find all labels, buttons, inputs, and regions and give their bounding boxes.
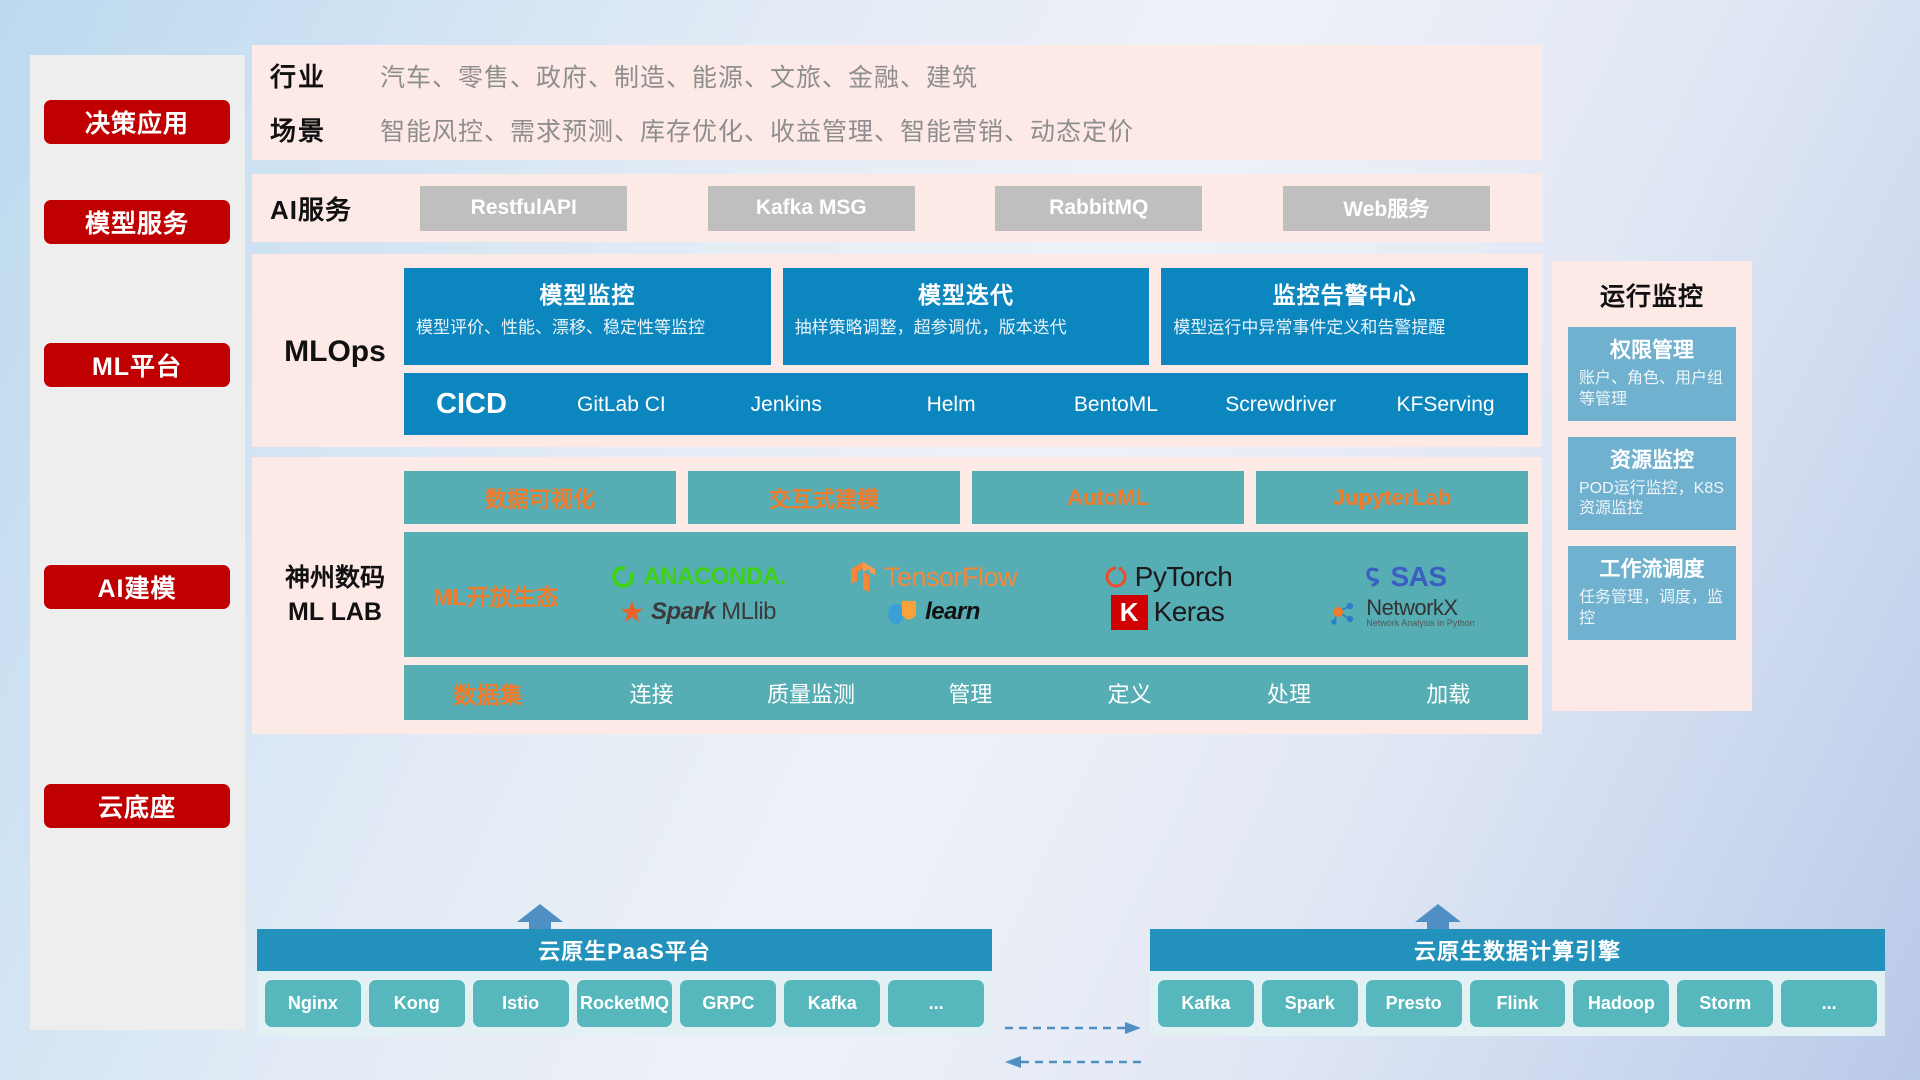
stage-pill-cloud-base[interactable]: 云底座 bbox=[44, 784, 230, 828]
dataset-label: 数据集 bbox=[404, 676, 572, 710]
pytorch-wordmark: PyTorch bbox=[1135, 561, 1233, 593]
card-desc: POD运行监控，K8S资源监控 bbox=[1579, 479, 1725, 521]
architecture-main: 行业 汽车、零售、政府、制造、能源、文旅、金融、建筑 场景 智能风控、需求预测、… bbox=[252, 45, 1542, 734]
card-desc: 模型运行中异常事件定义和告警提醒 bbox=[1173, 317, 1516, 339]
cicd-bar: CICD GitLab CI Jenkins Helm BentoML Scre… bbox=[404, 373, 1528, 435]
cicd-item-kfserving[interactable]: KFServing bbox=[1363, 394, 1528, 415]
mlops-label: MLOps bbox=[266, 268, 404, 435]
cloud-data-engine-title: 云原生数据计算引擎 bbox=[1150, 929, 1885, 971]
engine-chip-storm[interactable]: Storm bbox=[1677, 980, 1773, 1027]
stage-pill-model-service[interactable]: 模型服务 bbox=[44, 200, 230, 244]
stage-pill-ml-platform[interactable]: ML平台 bbox=[44, 343, 230, 387]
scenario-value: 智能风控、需求预测、库存优化、收益管理、智能营销、动态定价 bbox=[380, 112, 1134, 148]
dataset-item-process[interactable]: 处理 bbox=[1209, 677, 1368, 709]
paas-chip-nginx[interactable]: Nginx bbox=[265, 980, 361, 1027]
sas-wordmark: SAS bbox=[1390, 561, 1446, 593]
cicd-item-screwdriver[interactable]: Screwdriver bbox=[1198, 394, 1363, 415]
ml-lab-label: 神州数码 ML LAB bbox=[266, 471, 404, 720]
runtime-monitor-panel: 运行监控 权限管理 账户、角色、用户组等管理 资源监控 POD运行监控，K8S资… bbox=[1552, 261, 1752, 711]
scenario-key: 场景 bbox=[270, 111, 380, 148]
pytorch-logo: PyTorch bbox=[1103, 561, 1233, 593]
engine-chip-hadoop[interactable]: Hadoop bbox=[1573, 980, 1669, 1027]
paas-chip-more[interactable]: ... bbox=[888, 980, 984, 1027]
card-desc: 抽样策略调整，超参调优，版本迭代 bbox=[795, 317, 1138, 339]
ai-chip-rabbitmq[interactable]: RabbitMQ bbox=[995, 186, 1202, 231]
bidirectional-dashed-connector-icon bbox=[1003, 1010, 1143, 1080]
stage-pill-ai-modeling[interactable]: AI建模 bbox=[44, 565, 230, 609]
engine-chip-flink[interactable]: Flink bbox=[1470, 980, 1566, 1027]
card-desc: 任务管理，调度，监控 bbox=[1579, 588, 1725, 630]
industry-key: 行业 bbox=[270, 57, 380, 94]
scikit-learn-logo: learn bbox=[885, 595, 980, 629]
ml-lab-label-line1: 神州数码 bbox=[285, 564, 385, 592]
card-title: 权限管理 bbox=[1579, 334, 1725, 364]
networkx-wordmark: NetworkX bbox=[1366, 597, 1475, 619]
ai-service-label: AI服务 bbox=[270, 190, 380, 227]
dataset-item-load[interactable]: 加载 bbox=[1369, 677, 1528, 709]
stage-pill-decision[interactable]: 决策应用 bbox=[44, 100, 230, 144]
paas-chip-rocketmq[interactable]: RocketMQ bbox=[577, 980, 673, 1027]
tensorflow-wordmark: TensorFlow bbox=[884, 562, 1017, 593]
dataset-item-define[interactable]: 定义 bbox=[1050, 677, 1209, 709]
lab-tool-jupyterlab[interactable]: JupyterLab bbox=[1256, 471, 1528, 524]
engine-chip-kafka[interactable]: Kafka bbox=[1158, 980, 1254, 1027]
anaconda-logo: ANACONDA. bbox=[609, 563, 785, 591]
industry-row: 行业 汽车、零售、政府、制造、能源、文旅、金融、建筑 bbox=[270, 57, 1134, 94]
card-desc: 模型评价、性能、漂移、稳定性等监控 bbox=[416, 317, 759, 339]
mllib-wordmark: MLlib bbox=[721, 598, 776, 626]
card-title: 工作流调度 bbox=[1579, 553, 1725, 583]
cloud-paas-block: 云原生PaaS平台 Nginx Kong Istio RocketMQ GRPC… bbox=[257, 929, 992, 1036]
mlops-card-model-iteration[interactable]: 模型迭代 抽样策略调整，超参调优，版本迭代 bbox=[783, 268, 1150, 365]
ml-lab-band: 神州数码 ML LAB 数据可视化 交互式建模 AutoML JupyterLa… bbox=[252, 457, 1542, 734]
mlops-card-model-monitoring[interactable]: 模型监控 模型评价、性能、漂移、稳定性等监控 bbox=[404, 268, 771, 365]
dataset-item-quality[interactable]: 质量监测 bbox=[731, 677, 890, 709]
keras-mark: K bbox=[1111, 595, 1148, 630]
tensorflow-logo: TensorFlow bbox=[848, 561, 1017, 593]
ai-chip-kafka-msg[interactable]: Kafka MSG bbox=[708, 186, 915, 231]
cloud-paas-title: 云原生PaaS平台 bbox=[257, 929, 992, 971]
monitor-card-permission[interactable]: 权限管理 账户、角色、用户组等管理 bbox=[1568, 327, 1736, 421]
card-desc: 账户、角色、用户组等管理 bbox=[1579, 369, 1725, 411]
ai-chip-restfulapi[interactable]: RestfulAPI bbox=[420, 186, 627, 231]
anaconda-wordmark: ANACONDA. bbox=[643, 563, 785, 591]
sas-logo: SAS bbox=[1358, 561, 1446, 593]
cicd-item-gitlab-ci[interactable]: GitLab CI bbox=[539, 394, 704, 415]
ml-open-ecosystem-label: ML开放生态 bbox=[412, 578, 580, 612]
paas-chip-kong[interactable]: Kong bbox=[369, 980, 465, 1027]
ai-chip-web-service[interactable]: Web服务 bbox=[1283, 186, 1490, 231]
ml-lab-label-line2: ML LAB bbox=[288, 598, 382, 626]
paas-chip-istio[interactable]: Istio bbox=[473, 980, 569, 1027]
dataset-bar: 数据集 连接 质量监测 管理 定义 处理 加载 bbox=[404, 665, 1528, 720]
keras-logo: K Keras bbox=[1111, 595, 1224, 630]
industry-value: 汽车、零售、政府、制造、能源、文旅、金融、建筑 bbox=[380, 58, 978, 94]
dataset-item-manage[interactable]: 管理 bbox=[891, 677, 1050, 709]
cloud-data-engine-block: 云原生数据计算引擎 Kafka Spark Presto Flink Hadoo… bbox=[1150, 929, 1885, 1036]
scenario-row: 场景 智能风控、需求预测、库存优化、收益管理、智能营销、动态定价 bbox=[270, 111, 1134, 148]
paas-chip-grpc[interactable]: GRPC bbox=[680, 980, 776, 1027]
cicd-item-jenkins[interactable]: Jenkins bbox=[704, 394, 869, 415]
networkx-tagline: Network Analysis in Python bbox=[1366, 619, 1475, 628]
runtime-monitor-title: 运行监控 bbox=[1568, 277, 1736, 313]
ai-service-band: AI服务 RestfulAPI Kafka MSG RabbitMQ Web服务 bbox=[252, 174, 1542, 242]
card-title: 模型迭代 bbox=[795, 276, 1138, 310]
lab-tool-interactive-modeling[interactable]: 交互式建模 bbox=[688, 471, 960, 524]
dataset-item-connect[interactable]: 连接 bbox=[572, 677, 731, 709]
engine-chip-spark[interactable]: Spark bbox=[1262, 980, 1358, 1027]
stage-rail: 决策应用 模型服务 ML平台 AI建模 云底座 bbox=[30, 55, 245, 1030]
spark-mllib-logo: Spark MLlib bbox=[619, 598, 776, 626]
cicd-item-bentoml[interactable]: BentoML bbox=[1033, 394, 1198, 415]
monitor-card-resource[interactable]: 资源监控 POD运行监控，K8S资源监控 bbox=[1568, 437, 1736, 531]
cicd-item-helm[interactable]: Helm bbox=[869, 394, 1034, 415]
keras-wordmark: Keras bbox=[1154, 596, 1225, 628]
engine-chip-more[interactable]: ... bbox=[1781, 980, 1877, 1027]
paas-chip-kafka[interactable]: Kafka bbox=[784, 980, 880, 1027]
mlops-card-alert-center[interactable]: 监控告警中心 模型运行中异常事件定义和告警提醒 bbox=[1161, 268, 1528, 365]
networkx-logo: NetworkX Network Analysis in Python bbox=[1330, 597, 1475, 628]
ml-open-ecosystem: ML开放生态 ANACONDA. TensorFlo bbox=[404, 532, 1528, 657]
mlops-band: MLOps 模型监控 模型评价、性能、漂移、稳定性等监控 模型迭代 抽样策略调整… bbox=[252, 254, 1542, 447]
card-title: 模型监控 bbox=[416, 276, 759, 310]
lab-tool-data-visualization[interactable]: 数据可视化 bbox=[404, 471, 676, 524]
cicd-label: CICD bbox=[404, 388, 539, 421]
engine-chip-presto[interactable]: Presto bbox=[1366, 980, 1462, 1027]
monitor-card-workflow[interactable]: 工作流调度 任务管理，调度，监控 bbox=[1568, 546, 1736, 640]
scikit-learn-wordmark: learn bbox=[925, 598, 980, 626]
industry-scenario-band: 行业 汽车、零售、政府、制造、能源、文旅、金融、建筑 场景 智能风控、需求预测、… bbox=[252, 45, 1542, 160]
card-title: 监控告警中心 bbox=[1173, 276, 1516, 310]
card-title: 资源监控 bbox=[1579, 444, 1725, 474]
spark-wordmark: Spark bbox=[651, 598, 715, 626]
lab-tool-automl[interactable]: AutoML bbox=[972, 471, 1244, 524]
